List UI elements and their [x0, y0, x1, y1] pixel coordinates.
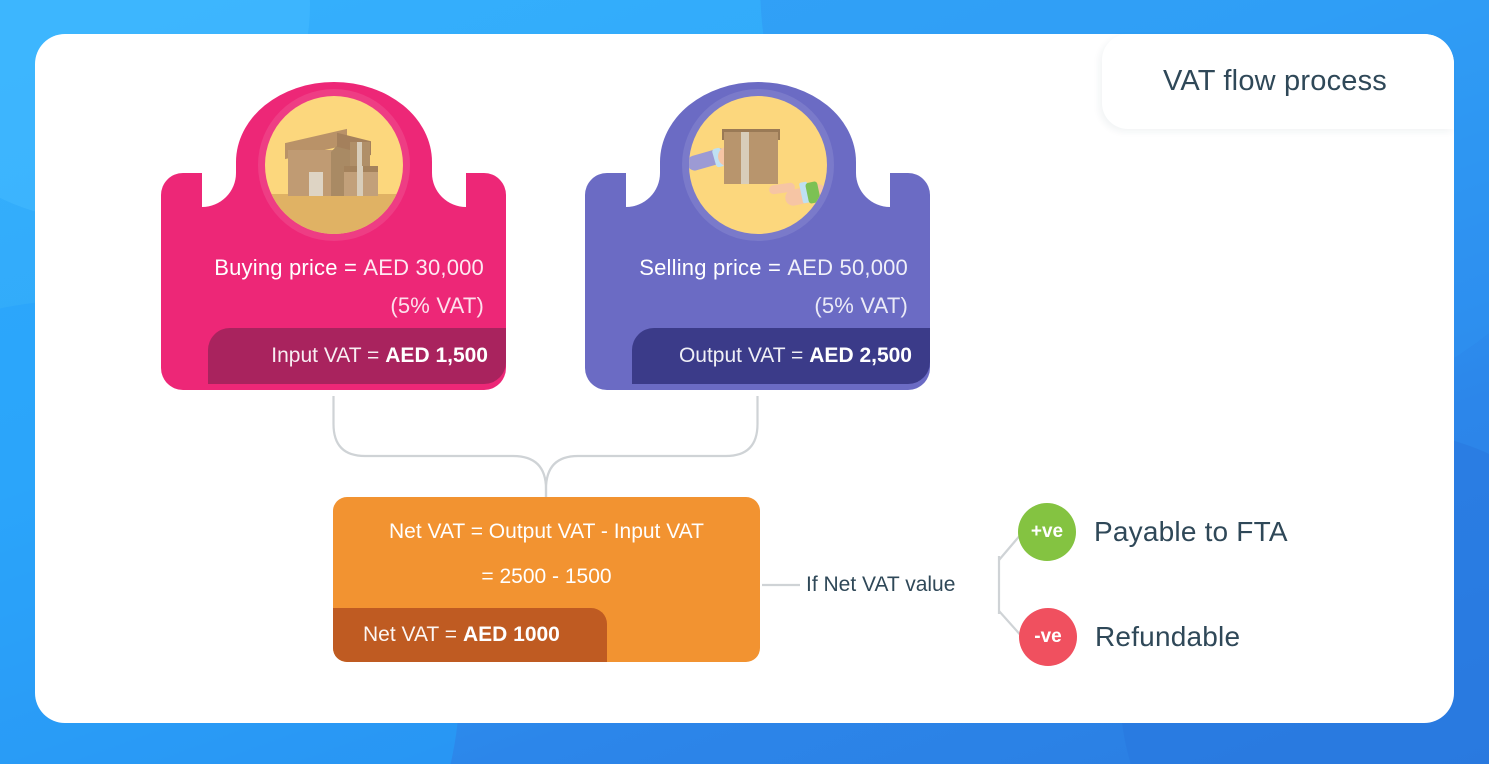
input-vat-value: AED 1,500	[385, 344, 488, 368]
box-large-tape-shape	[357, 166, 363, 196]
price-row: Buying price = AED 30,000	[183, 249, 484, 287]
net-vat-result-key: Net VAT =	[363, 623, 457, 647]
warehouse-boxes-icon	[265, 96, 403, 234]
vat-rate-row: (5% VAT)	[607, 287, 908, 325]
output-vat-bar: Output VAT = AED 2,500	[632, 328, 930, 384]
outcome-positive: +ve Payable to FTA	[1018, 503, 1288, 561]
input-vat-bar: Input VAT = AED 1,500	[208, 328, 506, 384]
page-title: VAT flow process	[1163, 65, 1387, 98]
price-label: Buying price =	[214, 255, 363, 280]
card-selling-price: Selling price = AED 50,000 (5% VAT) Outp…	[585, 173, 930, 390]
net-vat-calculation: = 2500 - 1500	[333, 565, 760, 589]
card-price-lines: Selling price = AED 50,000 (5% VAT)	[607, 249, 908, 325]
card-fillet-left	[202, 173, 236, 207]
status-badge-negative: -ve	[1019, 608, 1077, 666]
output-vat-key: Output VAT =	[679, 344, 803, 368]
ground-shape	[265, 194, 403, 234]
box-small-tape-shape	[357, 142, 362, 168]
price-label: Selling price =	[639, 255, 787, 280]
vat-rate-note: (5% VAT)	[814, 293, 908, 318]
outcome-negative-label: Refundable	[1095, 621, 1240, 653]
net-vat-result-value: AED 1000	[463, 623, 560, 647]
card-fillet-right	[432, 173, 466, 207]
card-fillet-right	[856, 173, 890, 207]
status-badge-positive: +ve	[1018, 503, 1076, 561]
net-vat-result-bar: Net VAT = AED 1000	[333, 608, 607, 662]
hands-exchanging-box-icon	[689, 96, 827, 234]
net-vat-box: Net VAT = Output VAT - Input VAT = 2500 …	[333, 497, 760, 662]
box-tape-shape	[741, 132, 749, 184]
infographic-canvas: VAT flow process	[0, 0, 1489, 764]
net-vat-formula: Net VAT = Output VAT - Input VAT	[333, 520, 760, 544]
condition-label: If Net VAT value	[806, 573, 955, 597]
input-vat-key: Input VAT =	[271, 344, 379, 368]
warehouse-door-shape	[309, 172, 323, 196]
card-fillet-left	[626, 173, 660, 207]
vat-rate-note: (5% VAT)	[390, 293, 484, 318]
card-buying-price: Buying price = AED 30,000 (5% VAT) Input…	[161, 173, 506, 390]
title-tab: VAT flow process	[1102, 34, 1454, 129]
price-amount: AED 50,000	[787, 255, 908, 280]
price-amount: AED 30,000	[363, 255, 484, 280]
vat-rate-row: (5% VAT)	[183, 287, 484, 325]
price-row: Selling price = AED 50,000	[607, 249, 908, 287]
card-price-lines: Buying price = AED 30,000 (5% VAT)	[183, 249, 484, 325]
box-body-shape	[724, 132, 778, 184]
outcome-negative: -ve Refundable	[1019, 608, 1240, 666]
outcome-positive-label: Payable to FTA	[1094, 516, 1288, 548]
output-vat-value: AED 2,500	[809, 344, 912, 368]
